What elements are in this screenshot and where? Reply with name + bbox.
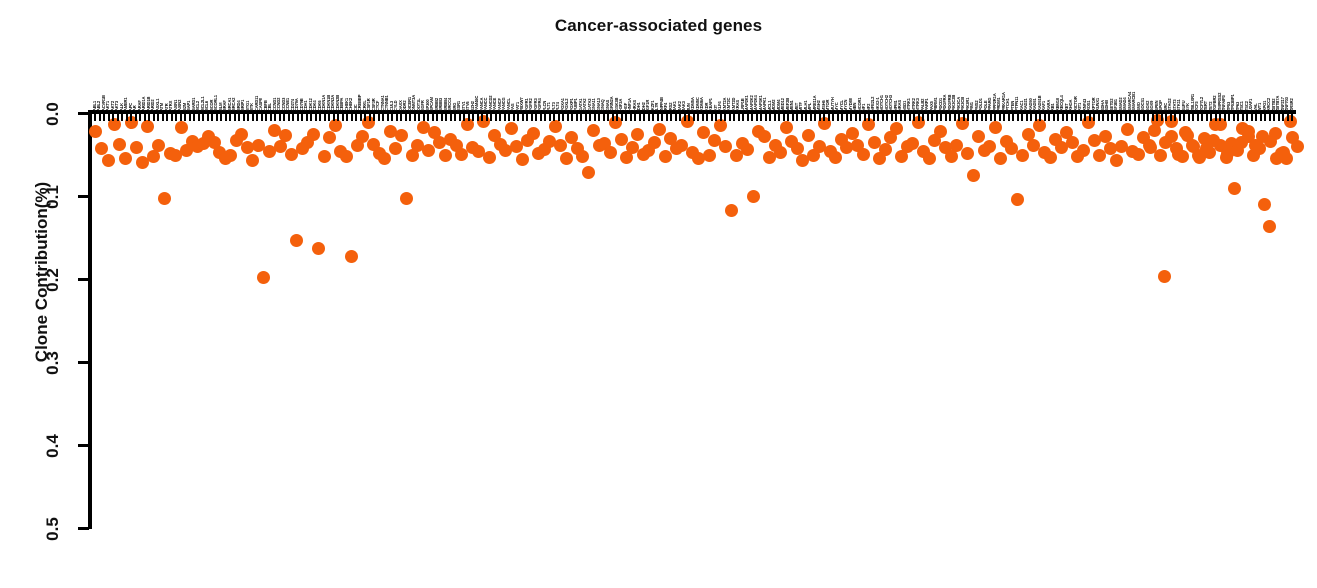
- x-axis-tick: [409, 110, 411, 121]
- x-axis-tick: [288, 110, 290, 121]
- x-axis-tick: [886, 110, 888, 121]
- x-axis-tick: [904, 110, 906, 121]
- scatter-point: [1011, 193, 1024, 206]
- x-axis-tick: [310, 110, 312, 121]
- x-axis-tick: [909, 110, 911, 121]
- x-axis-tick: [661, 110, 663, 121]
- x-axis-tick: [526, 110, 528, 121]
- x-axis-tick: [414, 110, 416, 121]
- scatter-point: [554, 139, 567, 152]
- x-axis-tick: [1143, 110, 1145, 121]
- x-axis-tick: [198, 110, 200, 121]
- y-axis-tick: [78, 361, 89, 364]
- x-axis-tick: [810, 110, 812, 121]
- scatter-point: [1221, 147, 1234, 160]
- x-axis-tick: [900, 110, 902, 121]
- x-axis-tick: [1242, 110, 1244, 121]
- scatter-point: [648, 136, 661, 149]
- scatter-point: [923, 152, 936, 165]
- x-axis-tick: [355, 110, 357, 121]
- x-axis-tick: [553, 110, 555, 121]
- x-axis-tick: [229, 110, 231, 121]
- scatter-point: [422, 144, 435, 157]
- x-axis-tick: [1156, 110, 1158, 121]
- scatter-point: [312, 242, 325, 255]
- scatter-point: [719, 140, 732, 153]
- x-axis-tick: [387, 110, 389, 121]
- x-axis-tick: [981, 110, 983, 121]
- x-axis-tick: [1138, 110, 1140, 121]
- x-axis-tick: [477, 110, 479, 121]
- x-axis-tick: [202, 110, 204, 121]
- scatter-point: [318, 150, 331, 163]
- scatter-point: [983, 140, 996, 153]
- x-axis-tick: [954, 110, 956, 121]
- scatter-point: [1158, 270, 1171, 283]
- x-axis-tick: [945, 110, 947, 121]
- x-axis-tick: [1111, 110, 1113, 121]
- x-axis-tick: [774, 110, 776, 121]
- x-axis-tick: [1125, 110, 1127, 121]
- x-axis-tick: [1206, 110, 1208, 121]
- x-axis-tick: [405, 110, 407, 121]
- x-axis-tick: [616, 110, 618, 121]
- scatter-point: [989, 121, 1002, 134]
- x-axis-tick: [666, 110, 668, 121]
- scatter-point: [582, 166, 595, 179]
- x-axis-tick: [252, 110, 254, 121]
- scatter-point: [725, 204, 738, 217]
- x-axis-tick: [1170, 110, 1172, 121]
- scatter-point: [774, 146, 787, 159]
- scatter-point: [329, 119, 342, 132]
- x-axis-tick: [432, 110, 434, 121]
- x-axis-tick: [837, 110, 839, 121]
- x-axis-tick: [603, 110, 605, 121]
- x-axis-tick: [549, 110, 551, 121]
- x-axis-tick: [679, 110, 681, 121]
- x-axis-tick: [639, 110, 641, 121]
- x-axis-tick: [594, 110, 596, 121]
- y-axis-tick: [78, 195, 89, 198]
- x-axis-tick: [652, 110, 654, 121]
- scatter-point: [102, 154, 115, 167]
- x-axis-tick: [256, 110, 258, 121]
- x-axis-tick: [184, 110, 186, 121]
- x-axis-tick: [193, 110, 195, 121]
- x-axis-tick: [751, 110, 753, 121]
- scatter-point: [994, 152, 1007, 165]
- x-axis-tick: [823, 110, 825, 121]
- scatter-point: [439, 149, 452, 162]
- x-axis-tick: [153, 110, 155, 121]
- chart-figure: Cancer-associated genes Clone Contributi…: [0, 0, 1317, 588]
- x-axis-tick: [1233, 110, 1235, 121]
- x-axis-tick: [706, 110, 708, 121]
- scatter-point: [340, 150, 353, 163]
- x-axis-tick: [382, 110, 384, 121]
- x-axis-tick: [778, 110, 780, 121]
- x-axis-tick: [175, 110, 177, 121]
- scatter-point: [356, 130, 369, 143]
- scatter-point: [1258, 198, 1271, 211]
- x-axis-tick: [1201, 110, 1203, 121]
- x-axis-tick: [1282, 110, 1284, 121]
- x-axis-tick: [562, 110, 564, 121]
- x-axis-tick: [850, 110, 852, 121]
- x-axis-tick: [828, 110, 830, 121]
- x-axis-tick: [418, 110, 420, 121]
- x-axis-tick: [918, 110, 920, 121]
- x-axis-tick: [238, 110, 240, 121]
- x-axis-tick: [994, 110, 996, 121]
- x-axis-tick: [472, 110, 474, 121]
- x-axis-tick: [423, 110, 425, 121]
- x-axis-tick: [688, 110, 690, 121]
- x-axis-tick: [621, 110, 623, 121]
- x-axis-tick: [117, 110, 119, 121]
- x-axis-tick: [279, 110, 281, 121]
- scatter-point: [395, 129, 408, 142]
- scatter-point: [857, 148, 870, 161]
- x-axis-tick: [1116, 110, 1118, 121]
- scatter-point: [1249, 139, 1262, 152]
- x-axis-tick: [112, 110, 114, 121]
- x-axis-tick: [1026, 110, 1028, 121]
- x-axis-tick: [1044, 110, 1046, 121]
- scatter-point: [604, 146, 617, 159]
- x-axis-tick: [733, 110, 735, 121]
- x-axis-tick: [571, 110, 573, 121]
- x-axis-tick: [580, 110, 582, 121]
- x-axis-tick: [630, 110, 632, 121]
- scatter-point: [1132, 148, 1145, 161]
- y-axis-tick-label: 0.3: [43, 343, 63, 383]
- x-axis-tick: [738, 110, 740, 121]
- scatter-point: [1269, 127, 1282, 140]
- y-axis-tick-label: 0.5: [43, 509, 63, 549]
- scatter-point: [961, 147, 974, 160]
- scatter-point: [659, 150, 672, 163]
- x-axis-tick: [985, 110, 987, 121]
- x-axis-tick: [607, 110, 609, 121]
- scatter-point: [483, 151, 496, 164]
- x-axis-tick: [324, 110, 326, 121]
- x-axis-tick: [508, 110, 510, 121]
- scatter-point: [587, 124, 600, 137]
- x-axis-tick: [166, 110, 168, 121]
- x-axis-tick: [832, 110, 834, 121]
- x-axis-tick: [1278, 110, 1280, 121]
- x-axis-tick: [490, 110, 492, 121]
- x-axis-tick: [103, 110, 105, 121]
- x-axis-tick: [283, 110, 285, 121]
- x-axis-tick: [1179, 110, 1181, 121]
- x-axis-tick: [270, 110, 272, 121]
- x-axis-tick: [495, 110, 497, 121]
- scatter-point: [1186, 139, 1199, 152]
- x-axis-tick: [756, 110, 758, 121]
- scatter-point: [1110, 154, 1123, 167]
- x-axis-tick: [864, 110, 866, 121]
- x-axis-tick: [306, 110, 308, 121]
- x-axis-tick: [796, 110, 798, 121]
- x-axis-tick: [1251, 110, 1253, 121]
- x-axis-tick: [504, 110, 506, 121]
- x-axis-tick: [675, 110, 677, 121]
- x-axis-tick: [369, 110, 371, 121]
- scatter-point: [1193, 151, 1206, 164]
- x-axis-tick: [292, 110, 294, 121]
- x-axis-tick: [468, 110, 470, 121]
- x-axis-tick: [436, 110, 438, 121]
- x-axis-tick: [531, 110, 533, 121]
- scatter-point: [1228, 182, 1241, 195]
- x-axis-tick: [657, 110, 659, 121]
- x-axis-tick: [243, 110, 245, 121]
- x-axis-tick: [130, 110, 132, 121]
- x-axis-tick: [333, 110, 335, 121]
- scatter-point: [1179, 126, 1192, 139]
- scatter-point: [697, 126, 710, 139]
- x-axis-tick: [121, 110, 123, 121]
- x-axis-tick: [999, 110, 1001, 121]
- y-axis-tick: [78, 112, 89, 115]
- x-axis-tick: [1057, 110, 1059, 121]
- x-axis-tick: [189, 110, 191, 121]
- y-axis-tick-label: 0.1: [43, 177, 63, 217]
- x-axis-tick: [990, 110, 992, 121]
- x-axis-tick: [1152, 110, 1154, 121]
- scatter-point: [279, 129, 292, 142]
- scatter-point: [758, 130, 771, 143]
- x-axis-tick: [814, 110, 816, 121]
- x-axis-tick: [972, 110, 974, 121]
- x-axis-tick: [792, 110, 794, 121]
- scatter-point: [906, 137, 919, 150]
- x-axis-tick: [724, 110, 726, 121]
- x-axis-tick: [346, 110, 348, 121]
- x-axis-tick: [1219, 110, 1221, 121]
- x-axis-tick: [859, 110, 861, 121]
- x-axis-tick: [670, 110, 672, 121]
- x-axis-tick: [1066, 110, 1068, 121]
- x-axis-tick: [1174, 110, 1176, 121]
- x-axis-tick: [1291, 110, 1293, 121]
- scatter-point: [345, 250, 358, 263]
- x-axis-tick: [819, 110, 821, 121]
- x-axis-tick: [612, 110, 614, 121]
- x-axis-tick: [1120, 110, 1122, 121]
- scatter-point: [549, 120, 562, 133]
- y-axis-tick: [78, 278, 89, 281]
- x-axis-tick: [360, 110, 362, 121]
- x-axis-tick: [936, 110, 938, 121]
- scatter-point: [1099, 130, 1112, 143]
- x-axis-tick: [558, 110, 560, 121]
- x-axis-tick: [846, 110, 848, 121]
- x-axis-tick: [589, 110, 591, 121]
- x-axis-tick: [400, 110, 402, 121]
- scatter-point: [802, 129, 815, 142]
- x-axis-tick: [976, 110, 978, 121]
- x-axis-tick: [319, 110, 321, 121]
- x-axis-tick: [261, 110, 263, 121]
- scatter-point: [516, 153, 529, 166]
- x-axis-tick: [598, 110, 600, 121]
- scatter-point: [1263, 220, 1276, 233]
- x-axis-tick: [1003, 110, 1005, 121]
- x-axis-tick: [1188, 110, 1190, 121]
- y-axis-tick-label: 0.4: [43, 426, 63, 466]
- scatter-point: [400, 192, 413, 205]
- x-axis-tick: [868, 110, 870, 121]
- x-axis-tick: [693, 110, 695, 121]
- x-axis-tick: [342, 110, 344, 121]
- x-axis-tick: [967, 110, 969, 121]
- x-axis-tick: [805, 110, 807, 121]
- scatter-point: [972, 130, 985, 143]
- scatter-point: [95, 142, 108, 155]
- x-axis-tick: [486, 110, 488, 121]
- x-axis-tick: [927, 110, 929, 121]
- x-axis-tick: [540, 110, 542, 121]
- x-axis-tick: [1062, 110, 1064, 121]
- x-axis-tick: [1183, 110, 1185, 121]
- scatter-point: [560, 152, 573, 165]
- x-axis-tick: [378, 110, 380, 121]
- x-axis-tick: [931, 110, 933, 121]
- x-axis-tick: [364, 110, 366, 121]
- scatter-point: [576, 150, 589, 163]
- x-axis-tick: [625, 110, 627, 121]
- x-axis-tick: [94, 110, 96, 121]
- x-axis-tick: [949, 110, 951, 121]
- x-axis-tick: [315, 110, 317, 121]
- scatter-point: [615, 133, 628, 146]
- x-axis-tick: [1237, 110, 1239, 121]
- x-axis-tick: [1228, 110, 1230, 121]
- x-axis-tick: [301, 110, 303, 121]
- x-axis-tick: [522, 110, 524, 121]
- x-axis-tick: [463, 110, 465, 121]
- x-axis-tick: [171, 110, 173, 121]
- y-axis-tick: [78, 527, 89, 530]
- scatter-point: [791, 142, 804, 155]
- scatter-point: [224, 149, 237, 162]
- scatter-point: [890, 122, 903, 135]
- scatter-point: [527, 127, 540, 140]
- x-axis-tick: [220, 110, 222, 121]
- scatter-point: [741, 143, 754, 156]
- x-axis-tick: [1161, 110, 1163, 121]
- x-axis-tick: [1215, 110, 1217, 121]
- x-axis-tick: [391, 110, 393, 121]
- x-axis-tick: [499, 110, 501, 121]
- x-axis-tick: [1030, 110, 1032, 121]
- x-axis-tick: [513, 110, 515, 121]
- scatter-point: [829, 151, 842, 164]
- x-axis-tick: [760, 110, 762, 121]
- x-axis-tick: [715, 110, 717, 121]
- x-axis-tick: [801, 110, 803, 121]
- scatter-point: [1016, 149, 1029, 162]
- x-axis-tick: [445, 110, 447, 121]
- scatter-point: [967, 169, 980, 182]
- x-axis-tick: [157, 110, 159, 121]
- scatter-point: [747, 190, 760, 203]
- scatter-point: [257, 271, 270, 284]
- x-axis-tick: [1224, 110, 1226, 121]
- scatter-point: [950, 139, 963, 152]
- x-axis-tick: [373, 110, 375, 121]
- x-axis-tick: [963, 110, 965, 121]
- x-axis-tick: [1197, 110, 1199, 121]
- x-axis-tick: [517, 110, 519, 121]
- scatter-point: [235, 128, 248, 141]
- scatter-point: [1165, 130, 1178, 143]
- scatter-point: [290, 234, 303, 247]
- scatter-point: [113, 138, 126, 151]
- x-axis-tick: [1048, 110, 1050, 121]
- scatter-point: [934, 125, 947, 138]
- x-axis-tick: [99, 110, 101, 121]
- x-axis-tick: [297, 110, 299, 121]
- x-axis-tick: [247, 110, 249, 121]
- scatter-point: [1291, 140, 1304, 153]
- scatter-point: [323, 131, 336, 144]
- x-axis-tick: [1273, 110, 1275, 121]
- x-axis-tick: [135, 110, 137, 121]
- x-axis-tick: [684, 110, 686, 121]
- scatter-point: [1144, 141, 1157, 154]
- x-axis-tick: [441, 110, 443, 121]
- x-axis-tick: [841, 110, 843, 121]
- x-axis-tick: [720, 110, 722, 121]
- x-axis-tick: [1102, 110, 1104, 121]
- x-axis-tick: [337, 110, 339, 121]
- x-axis-tick: [1210, 110, 1212, 121]
- x-axis-tick: [396, 110, 398, 121]
- scatter-point: [158, 192, 171, 205]
- x-axis-tick: [877, 110, 879, 121]
- x-axis-tick: [913, 110, 915, 121]
- x-axis-tick: [139, 110, 141, 121]
- x-axis-tick: [1039, 110, 1041, 121]
- x-axis-tick: [1287, 110, 1289, 121]
- x-axis-tick: [702, 110, 704, 121]
- x-axis-tick: [427, 110, 429, 121]
- x-axis-tick: [729, 110, 731, 121]
- x-axis-tick: [1093, 110, 1095, 121]
- x-axis-tick: [697, 110, 699, 121]
- y-axis-tick: [78, 444, 89, 447]
- scatter-point: [505, 122, 518, 135]
- x-axis-tick: [769, 110, 771, 121]
- x-axis-tick: [450, 110, 452, 121]
- x-axis-tick: [1035, 110, 1037, 121]
- plot-area: [0, 0, 1317, 588]
- x-axis-tick: [765, 110, 767, 121]
- x-axis-tick: [643, 110, 645, 121]
- scatter-point: [1044, 151, 1057, 164]
- x-axis-tick: [634, 110, 636, 121]
- x-axis-tick: [225, 110, 227, 121]
- x-axis-tick: [585, 110, 587, 121]
- x-axis-tick: [1008, 110, 1010, 121]
- x-axis-tick: [648, 110, 650, 121]
- x-axis-tick: [328, 110, 330, 121]
